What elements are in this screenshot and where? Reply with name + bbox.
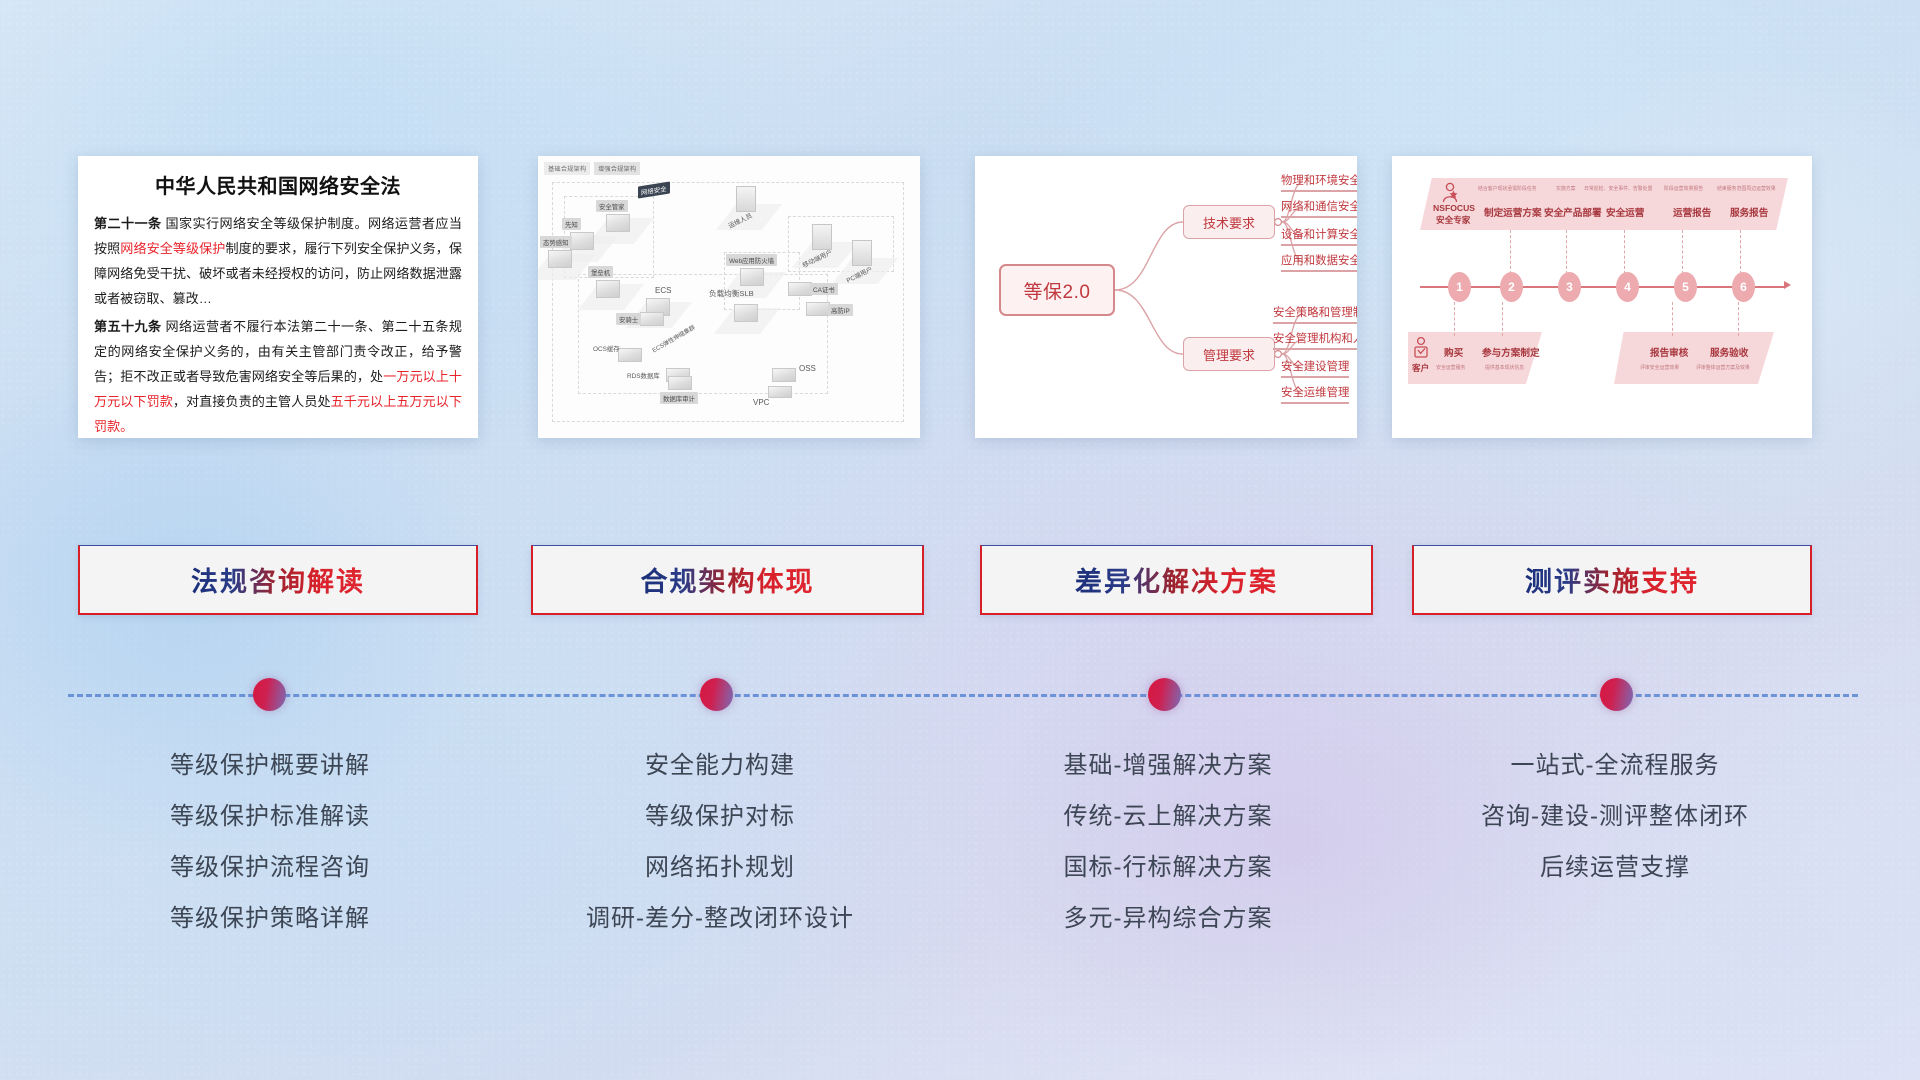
article-21-highlight: 网络安全等级保护 bbox=[120, 241, 225, 256]
arch-tab-basic[interactable]: 基础合规架构 bbox=[544, 162, 590, 175]
top-step-3-main: 安全运营 bbox=[1606, 205, 1644, 219]
top-step-4-main: 运营报告 bbox=[1673, 205, 1711, 219]
mindmap-root-node[interactable]: 等保2.0 bbox=[999, 264, 1115, 316]
track-dot-2[interactable] bbox=[700, 678, 733, 711]
timeline-node-1[interactable]: 1 bbox=[1448, 272, 1471, 302]
mindmap-leaf-physical-env[interactable]: 物理和环境安全 bbox=[1281, 172, 1357, 192]
mindmap-leaf-ops-mgmt[interactable]: 安全运维管理 bbox=[1281, 384, 1349, 404]
list-item[interactable]: 网络拓扑规划 bbox=[645, 842, 795, 893]
list-item[interactable]: 咨询-建设-测评整体闭环 bbox=[1481, 791, 1749, 842]
list-item[interactable]: 后续运营支撑 bbox=[1540, 842, 1690, 893]
card-dengbao-mindmap[interactable]: 等保2.0 技术要求 管理要求 物理和环境安全 网络和通信安全 设备和计算安全 … bbox=[975, 156, 1357, 438]
top-step-5-main: 服务报告 bbox=[1730, 205, 1768, 219]
mindmap-leaf-construction-mgmt[interactable]: 安全建设管理 bbox=[1281, 358, 1349, 378]
pillar-0-item-list: 等级保护概要讲解 等级保护标准解读 等级保护流程咨询 等级保护策略详解 bbox=[60, 740, 480, 944]
top-step-4-sub: 阶段运营效果报告 bbox=[1664, 185, 1703, 192]
top-step-3-sub: 日常巡检、安全事件、告警处置 bbox=[1584, 185, 1652, 192]
pillar-1-item-list: 安全能力构建 等级保护对标 网络拓扑规划 调研-差分-整改闭环设计 bbox=[510, 740, 930, 944]
reference-cards-row: 中华人民共和国网络安全法 第二十一条 国家实行网络安全等级保护制度。网络运营者应… bbox=[0, 150, 1920, 440]
mindmap-branch-technical[interactable]: 技术要求 bbox=[1183, 205, 1275, 239]
mindmap-leaf-network-comm[interactable]: 网络和通信安全 bbox=[1281, 198, 1357, 218]
bottom-step-2-main: 参与方案制定 bbox=[1482, 345, 1540, 359]
law-card-title: 中华人民共和国网络安全法 bbox=[94, 170, 462, 199]
list-item[interactable]: 等级保护流程咨询 bbox=[170, 842, 370, 893]
track-dot-3[interactable] bbox=[1148, 678, 1181, 711]
progress-track bbox=[68, 694, 1858, 697]
law-article-59: 第五十九条 网络运营者不履行本法第二十一条、第二十五条规定的网络安全保护义务的，… bbox=[94, 314, 462, 438]
card-compliance-architecture[interactable]: 基础合规架构 增强合规架构 网络安全 安全管家 先知 bbox=[538, 156, 920, 438]
bottom-step-1-main: 购买 bbox=[1444, 345, 1463, 359]
bottom-step-2-sub: 提供基本现状信息 bbox=[1485, 364, 1524, 371]
expert-person-icon bbox=[1440, 182, 1460, 204]
timeline-canvas: NSFOCUS 安全专家 结合客户现状亟需阶段任务 制定运营方案 实施方案 安全… bbox=[1392, 156, 1812, 438]
top-step-2-sub: 实施方案 bbox=[1556, 185, 1576, 192]
top-step-1-main: 制定运营方案 bbox=[1484, 205, 1542, 219]
customer-person-icon bbox=[1412, 336, 1430, 362]
track-dot-1[interactable] bbox=[253, 678, 286, 711]
mindmap-branch-management[interactable]: 管理要求 bbox=[1183, 337, 1275, 371]
timeline-node-4[interactable]: 4 bbox=[1616, 272, 1639, 302]
timeline-band-customer-right bbox=[1614, 332, 1774, 384]
arch-tab-enhanced[interactable]: 增强合规架构 bbox=[594, 162, 640, 175]
timeline-node-6[interactable]: 6 bbox=[1732, 272, 1755, 302]
expert-label-line1: NSFOCUS bbox=[1433, 203, 1475, 213]
article-59-number: 第五十九条 bbox=[94, 319, 161, 334]
pillar-title-regulation-consulting[interactable]: 法规咨询解读 bbox=[78, 545, 478, 615]
mindmap-leaf-policy-system[interactable]: 安全策略和管理制度 bbox=[1273, 304, 1357, 324]
list-item[interactable]: 等级保护概要讲解 bbox=[170, 740, 370, 791]
pillar-3-label: 测评实施支持 bbox=[1525, 560, 1699, 599]
timeline-node-2[interactable]: 2 bbox=[1500, 272, 1523, 302]
bottom-step-4-main: 服务验收 bbox=[1710, 345, 1748, 359]
list-item[interactable]: 安全能力构建 bbox=[645, 740, 795, 791]
pillar-2-label: 差异化解决方案 bbox=[1075, 560, 1278, 599]
list-item[interactable]: 一站式-全流程服务 bbox=[1511, 740, 1720, 791]
top-step-2-main: 安全产品部署 bbox=[1544, 205, 1602, 219]
bottom-step-3-sub: 评审安全运营效果 bbox=[1640, 364, 1679, 371]
bottom-step-3-main: 报告审核 bbox=[1650, 345, 1688, 359]
mindmap-leaf-device-compute[interactable]: 设备和计算安全 bbox=[1281, 226, 1357, 246]
card-cybersecurity-law[interactable]: 中华人民共和国网络安全法 第二十一条 国家实行网络安全等级保护制度。网络运营者应… bbox=[78, 156, 478, 438]
customer-label: 客户 bbox=[1412, 362, 1429, 374]
expert-label-line2: 安全专家 bbox=[1436, 214, 1470, 226]
mindmap-leaf-app-data[interactable]: 应用和数据安全 bbox=[1281, 252, 1357, 272]
list-item[interactable]: 多元-异构综合方案 bbox=[1064, 893, 1273, 944]
pillar-title-differentiated-solution[interactable]: 差异化解决方案 bbox=[980, 545, 1373, 615]
law-article-21: 第二十一条 国家实行网络安全等级保护制度。网络运营者应当按照网络安全等级保护制度… bbox=[94, 211, 462, 311]
list-item[interactable]: 国标-行标解决方案 bbox=[1064, 842, 1273, 893]
list-item[interactable]: 调研-差分-整改闭环设计 bbox=[586, 893, 854, 944]
pillar-0-label: 法规咨询解读 bbox=[191, 560, 365, 599]
article-21-number: 第二十一条 bbox=[94, 216, 161, 231]
list-item[interactable]: 等级保护对标 bbox=[645, 791, 795, 842]
top-step-1-sub: 结合客户现状亟需阶段任务 bbox=[1478, 185, 1537, 192]
list-item[interactable]: 等级保护策略详解 bbox=[170, 893, 370, 944]
pillar-1-label: 合规架构体现 bbox=[641, 560, 815, 599]
article-59-mid: ，对直接负责的主管人员处 bbox=[173, 394, 331, 409]
pillar-2-item-list: 基础-增强解决方案 传统-云上解决方案 国标-行标解决方案 多元-异构综合方案 bbox=[958, 740, 1378, 944]
bottom-step-4-sub: 评审整体运营方案及效果 bbox=[1696, 364, 1750, 371]
pillar-3-item-list: 一站式-全流程服务 咨询-建设-测评整体闭环 后续运营支撑 bbox=[1405, 740, 1825, 893]
architecture-diagram: 基础合规架构 增强合规架构 网络安全 安全管家 先知 bbox=[538, 156, 920, 438]
mindmap-canvas: 等保2.0 技术要求 管理要求 物理和环境安全 网络和通信安全 设备和计算安全 … bbox=[975, 156, 1357, 438]
pillar-title-evaluation-support[interactable]: 测评实施支持 bbox=[1412, 545, 1812, 615]
pillar-title-compliance-architecture[interactable]: 合规架构体现 bbox=[531, 545, 924, 615]
timeline-arrow-icon bbox=[1784, 281, 1791, 289]
timeline-node-5[interactable]: 5 bbox=[1674, 272, 1697, 302]
track-dot-4[interactable] bbox=[1600, 678, 1633, 711]
card-nsfocus-service-timeline[interactable]: NSFOCUS 安全专家 结合客户现状亟需阶段任务 制定运营方案 实施方案 安全… bbox=[1392, 156, 1812, 438]
bottom-step-1-sub: 安全运营服务 bbox=[1436, 364, 1465, 371]
list-item[interactable]: 基础-增强解决方案 bbox=[1064, 740, 1273, 791]
timeline-node-3[interactable]: 3 bbox=[1558, 272, 1581, 302]
list-item[interactable]: 传统-云上解决方案 bbox=[1064, 791, 1273, 842]
mindmap-leaf-org-personnel[interactable]: 安全管理机构和人员 bbox=[1273, 330, 1357, 350]
list-item[interactable]: 等级保护标准解读 bbox=[170, 791, 370, 842]
top-step-5-sub: 结束服务范围周边运营效果 bbox=[1717, 185, 1776, 192]
